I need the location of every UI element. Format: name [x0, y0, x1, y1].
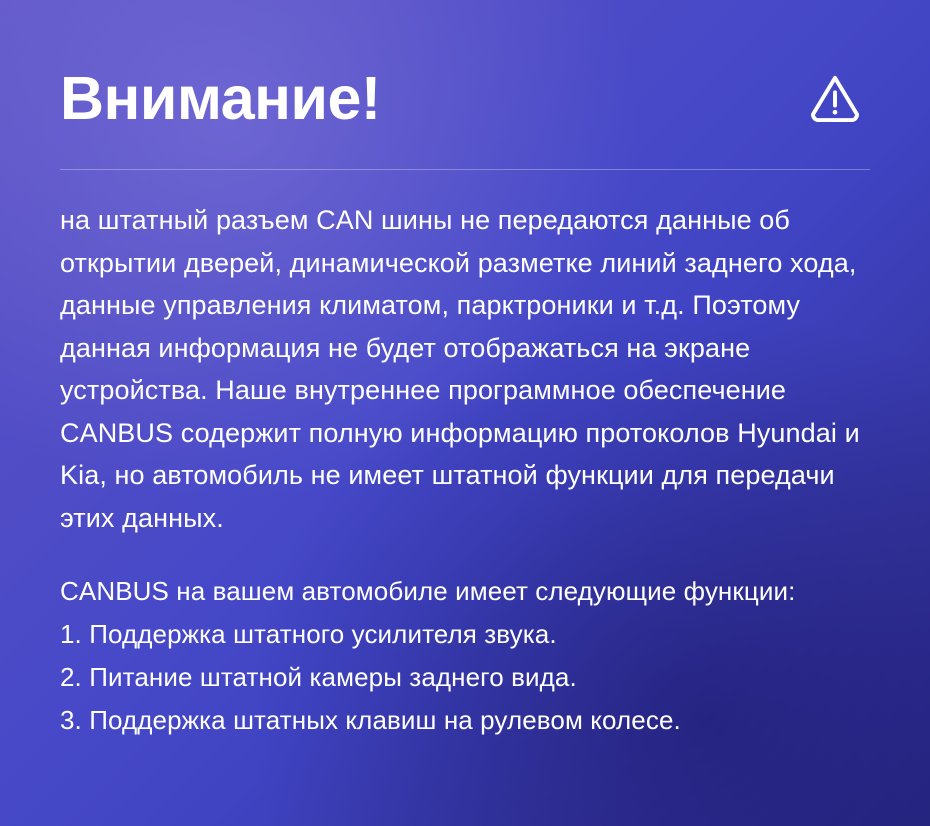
list-item: 2. Питание штатной камеры заднего вида. — [60, 656, 870, 699]
warning-poster: Внимание! на штатный разъем CAN шины не … — [0, 0, 930, 826]
poster-content: Внимание! на штатный разъем CAN шины не … — [0, 0, 930, 742]
warning-triangle-icon — [805, 68, 865, 128]
features-list: 1. Поддержка штатного усилителя звука. 2… — [60, 613, 870, 742]
features-intro: CANBUS на вашем автомобиле имеет следующ… — [60, 570, 870, 613]
warning-paragraph: на штатный разъем CAN шины не передаются… — [60, 199, 870, 539]
page-title: Внимание! — [60, 68, 381, 129]
list-item: 1. Поддержка штатного усилителя звука. — [60, 613, 870, 656]
poster-header: Внимание! — [60, 0, 870, 148]
body-block: на штатный разъем CAN шины не передаются… — [60, 199, 870, 539]
features-block: CANBUS на вашем автомобиле имеет следующ… — [60, 570, 870, 742]
list-item: 3. Поддержка штатных клавиш на рулевом к… — [60, 699, 870, 742]
header-divider — [60, 169, 870, 170]
